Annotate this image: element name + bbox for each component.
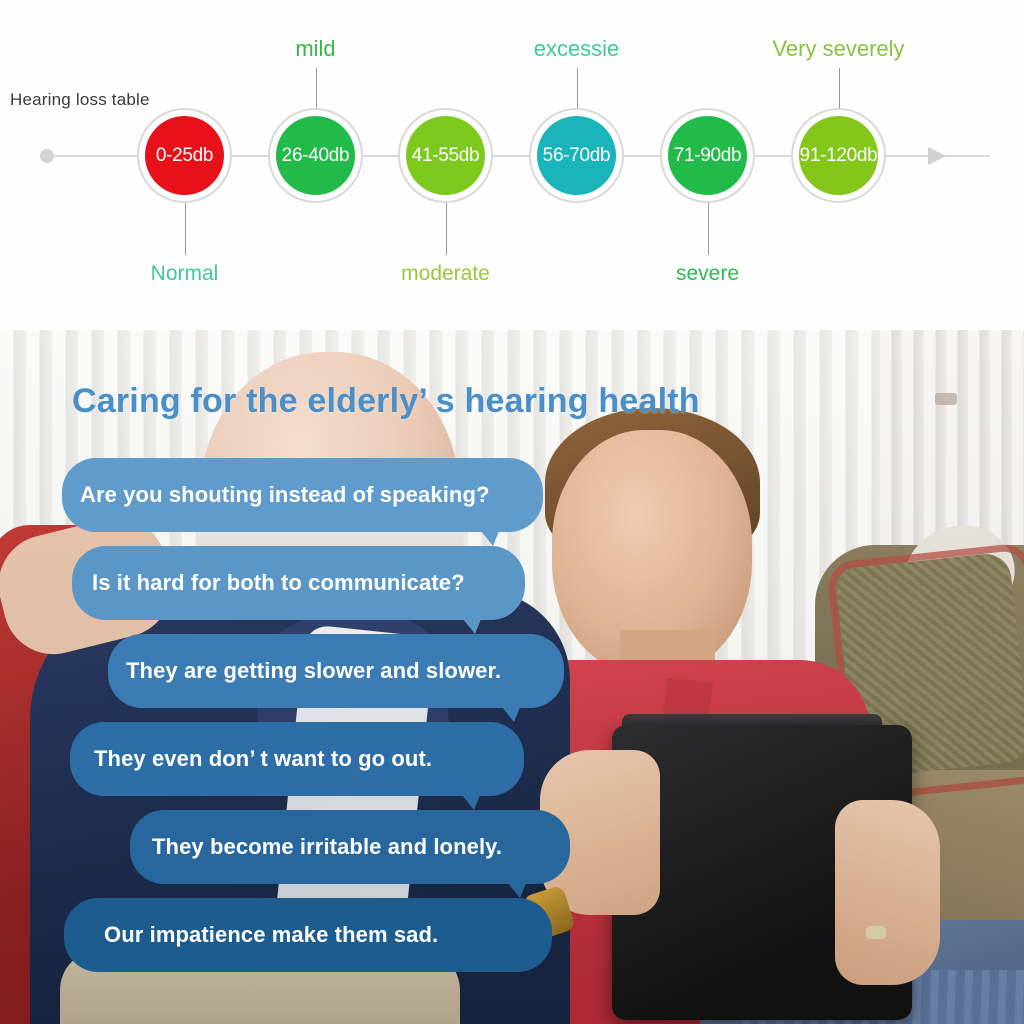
- scale-top-label-5: Very severely: [772, 36, 904, 62]
- scale-axis-arrow-icon: [928, 147, 946, 165]
- scale-node-0[interactable]: 0-25db: [137, 108, 232, 203]
- speech-bubble-tail: [498, 702, 522, 722]
- scale-node-range: 71-90db: [660, 145, 755, 167]
- hearing-health-poster: Hearing loss table Normal0-25dbmild26-40…: [0, 0, 1024, 1024]
- scale-node-range: 0-25db: [137, 145, 232, 167]
- banner-headline: Caring for the elderly’ s hearing health: [72, 382, 700, 421]
- speech-bubble-text: They even don’ t want to go out.: [94, 746, 432, 772]
- scale-node-range: 26-40db: [268, 145, 363, 167]
- speech-bubble-2: They are getting slower and slower.: [108, 634, 564, 708]
- scale-node-4[interactable]: 71-90db: [660, 108, 755, 203]
- speech-bubble-tail: [459, 614, 483, 634]
- scale-bottom-label-0: Normal: [151, 262, 219, 286]
- scale-caption: Hearing loss table: [10, 90, 150, 110]
- scale-node-range: 41-55db: [398, 145, 493, 167]
- speech-bubble-text: Is it hard for both to communicate?: [92, 570, 465, 596]
- speech-bubble-text: Are you shouting instead of speaking?: [80, 482, 490, 508]
- scale-stem-up: [316, 68, 317, 108]
- scale-bottom-label-2: moderate: [401, 262, 490, 286]
- scale-top-label-3: excessie: [534, 36, 620, 62]
- speech-bubble-1: Is it hard for both to communicate?: [72, 546, 525, 620]
- speech-bubble-text: Our impatience make them sad.: [104, 922, 438, 948]
- scale-stem-up: [839, 68, 840, 108]
- speech-bubble-0: Are you shouting instead of speaking?: [62, 458, 543, 532]
- scale-stem-down: [446, 203, 447, 255]
- scale-stem-down: [185, 203, 186, 255]
- speech-bubble-5: Our impatience make them sad.: [64, 898, 552, 972]
- speech-bubble-4: They become irritable and lonely.: [130, 810, 570, 884]
- scale-node-range: 56-70db: [529, 145, 624, 167]
- speech-bubble-text: They are getting slower and slower.: [126, 658, 501, 684]
- scale-top-label-1: mild: [295, 36, 335, 62]
- scale-stem-down: [708, 203, 709, 255]
- scale-node-5[interactable]: 91-120db: [791, 108, 886, 203]
- photo-banner: Caring for the elderly’ s hearing health…: [0, 330, 1024, 1024]
- hearing-loss-scale-panel: Hearing loss table Normal0-25dbmild26-40…: [0, 0, 1024, 330]
- speech-bubble-3: They even don’ t want to go out.: [70, 722, 524, 796]
- scale-stem-up: [577, 68, 578, 108]
- speech-bubble-tail: [477, 526, 501, 546]
- speech-bubble-text: They become irritable and lonely.: [152, 834, 502, 860]
- scale-node-1[interactable]: 26-40db: [268, 108, 363, 203]
- scale-node-range: 91-120db: [791, 145, 886, 167]
- scale-bottom-label-4: severe: [676, 262, 739, 286]
- speech-bubble-tail: [504, 878, 528, 898]
- speech-bubble-tail: [458, 790, 482, 810]
- scale-node-2[interactable]: 41-55db: [398, 108, 493, 203]
- scale-node-3[interactable]: 56-70db: [529, 108, 624, 203]
- scale-axis-start-dot: [40, 149, 54, 163]
